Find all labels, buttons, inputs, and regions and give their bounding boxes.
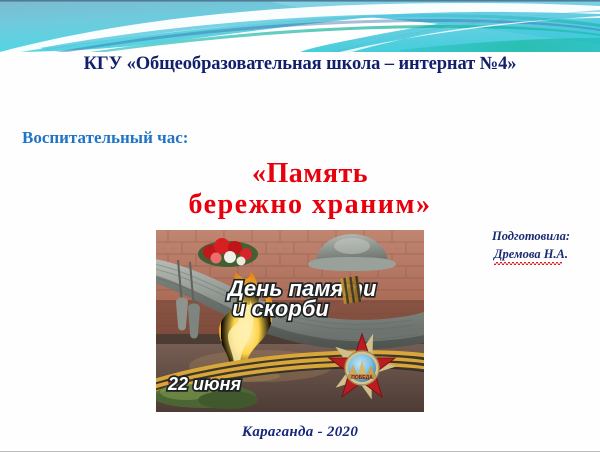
memorial-poster-graphic: День памяти и скорби [156, 230, 424, 412]
author-block: Подготовила: Дремова Н.А. [466, 228, 596, 264]
svg-text:22 июня: 22 июня [167, 374, 241, 394]
main-heading-line-2: бережно храним» [120, 189, 500, 220]
spellcheck-squiggle-underline [494, 262, 562, 265]
author-name: Дремова Н.А. [494, 247, 568, 261]
footer-place-year: Караганда - 2020 [0, 424, 600, 441]
lesson-kind-label: Воспитательный час: [22, 128, 188, 148]
presentation-slide: КГУ «Общеобразовательная школа – интерна… [0, 0, 600, 452]
medal-text: ПОБЕДА [351, 375, 373, 381]
decorative-wave-header [0, 0, 600, 52]
page-title: КГУ «Общеобразовательная школа – интерна… [0, 54, 600, 75]
poster-caption-line-2: и скорби [232, 296, 329, 321]
author-name-wrap: Дремова Н.А. [494, 246, 568, 264]
wave-graphic [0, 0, 600, 52]
poster-date-badge: 22 июня [167, 374, 241, 394]
main-heading-line-1: «Память [120, 158, 500, 189]
main-heading: «Память бережно храним» [120, 158, 500, 221]
author-label: Подготовила: [466, 228, 596, 246]
memorial-poster-image: День памяти и скорби [156, 230, 424, 412]
